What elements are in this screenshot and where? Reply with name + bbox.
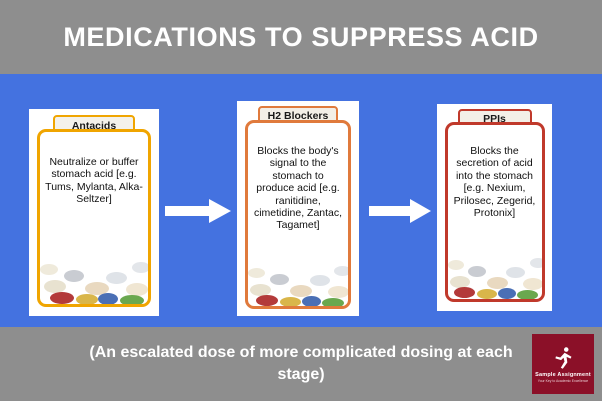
logo: Sample Assignment Your Key to Academic E… (532, 334, 594, 394)
stage-card-h2-blockers: H2 Blockers Blocks the body's signal to … (237, 101, 359, 316)
stage-card-antacids: Antacids Neutralize or buffer stomach ac… (29, 109, 159, 316)
pills-illustration-antacids (40, 252, 148, 304)
logo-name: Sample Assignment (535, 372, 591, 378)
bottle-antacids: Neutralize or buffer stomach acid [e.g. … (37, 129, 151, 307)
stage-text-antacids: Neutralize or buffer stomach acid [e.g. … (40, 156, 148, 206)
title-bar: MEDICATIONS TO SUPPRESS ACID (0, 0, 602, 74)
bottle-ppis: Blocks the secretion of acid into the st… (445, 122, 545, 302)
footer-bar: (An escalated dose of more complicated d… (0, 327, 602, 401)
runner-figure-icon (550, 345, 576, 371)
arrow-h2-to-ppis (369, 198, 431, 224)
pills-illustration-ppis (448, 247, 542, 299)
logo-tagline: Your Key to Academic Excellence (538, 379, 588, 383)
pills-illustration-h2-blockers (248, 254, 348, 306)
page-title: MEDICATIONS TO SUPPRESS ACID (63, 24, 538, 51)
footer-text: (An escalated dose of more complicated d… (66, 342, 536, 385)
arrow-antacids-to-h2 (165, 198, 231, 224)
stage-text-h2-blockers: Blocks the body's signal to the stomach … (248, 145, 348, 232)
stage-card-ppis: PPIs Blocks the secretion of acid into t… (437, 104, 552, 311)
stage-text-ppis: Blocks the secretion of acid into the st… (448, 145, 542, 219)
bottle-h2-blockers: Blocks the body's signal to the stomach … (245, 120, 351, 309)
slide: MEDICATIONS TO SUPPRESS ACID Antacids Ne… (0, 0, 602, 401)
